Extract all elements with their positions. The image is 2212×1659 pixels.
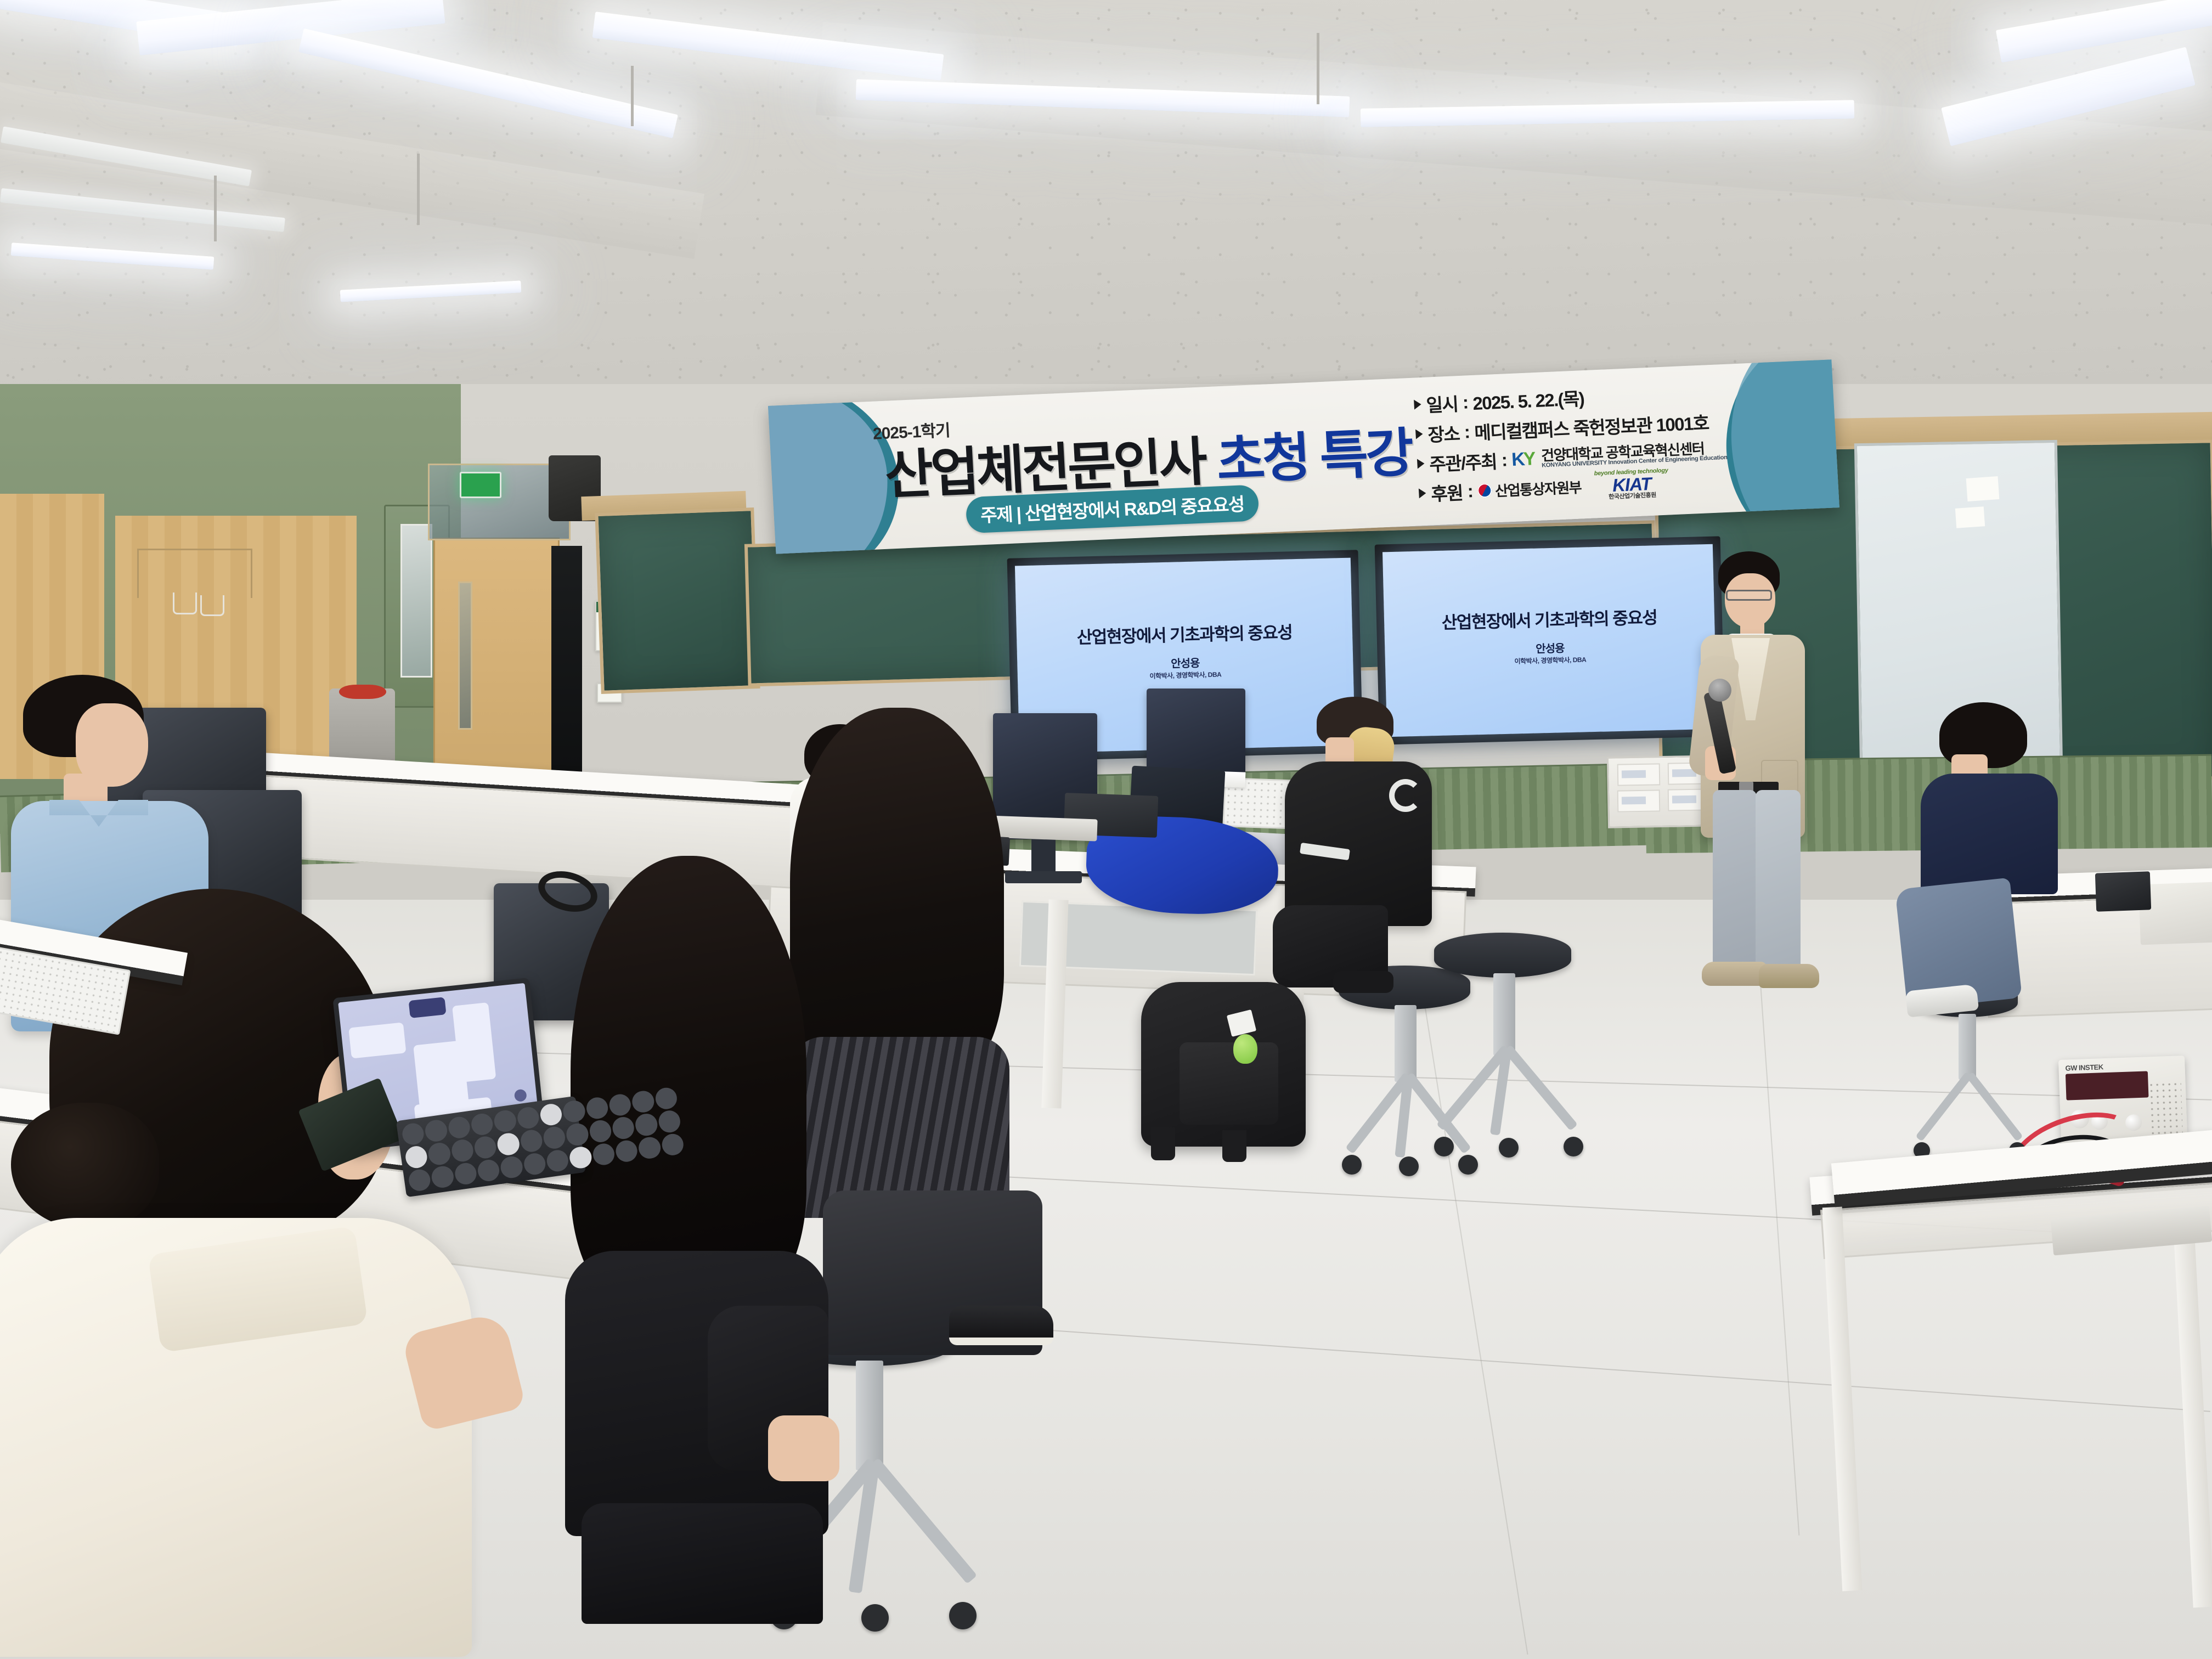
drawer-label bbox=[1622, 797, 1646, 805]
light-hanger-rod-4 bbox=[1317, 33, 1319, 104]
light-hanger-rod-3 bbox=[631, 66, 634, 126]
bullet-triangle-icon bbox=[1417, 459, 1425, 469]
backpack-charm-green bbox=[1233, 1034, 1257, 1064]
keyboard-key[interactable] bbox=[545, 1148, 569, 1172]
host-org-block: 건양대학교 공학교육혁신센터 KONYANG UNIVERSITY Innova… bbox=[1541, 440, 1727, 469]
banner-topic-divider: | bbox=[1016, 504, 1022, 524]
student-blonde-sandal bbox=[1333, 971, 1393, 993]
stool-caster bbox=[1499, 1138, 1519, 1158]
chat-bubble bbox=[409, 997, 447, 1018]
stool-caster bbox=[1342, 1155, 1362, 1175]
student-navy bbox=[1901, 702, 2060, 1009]
student-black-long-hair bbox=[571, 856, 806, 1306]
keyboard-key[interactable] bbox=[454, 1161, 478, 1186]
keyboard-key[interactable] bbox=[476, 1158, 500, 1182]
taegeuk-icon bbox=[1477, 483, 1492, 498]
banner-title-blue: 초청 특강 bbox=[1215, 424, 1413, 490]
keyboard-key[interactable] bbox=[516, 1106, 540, 1130]
banner-info-list: 일시 : 2025. 5. 22.(목) 장소 : 메디컬캠퍼스 죽헌정보관 1… bbox=[1413, 373, 1803, 508]
psu-display bbox=[2066, 1071, 2149, 1100]
whiteboard-sticky-2 bbox=[1955, 506, 1985, 528]
keyboard-key[interactable] bbox=[542, 1126, 566, 1150]
keyboard-key[interactable] bbox=[496, 1132, 521, 1156]
drawer-label bbox=[1622, 770, 1646, 778]
keyboard-key[interactable] bbox=[519, 1128, 543, 1153]
light-hanger-rod-1 bbox=[214, 176, 217, 241]
black-device-right bbox=[2095, 871, 2151, 911]
banner-topic-text: 산업현장에서 R&D의 중요요성 bbox=[1024, 494, 1244, 523]
stool-caster bbox=[949, 1602, 977, 1629]
student-black-long-hand bbox=[768, 1415, 839, 1481]
whiteboard-sticky-1 bbox=[1966, 476, 2000, 501]
psu-brand-label: GW INSTEK bbox=[2065, 1063, 2103, 1072]
av-drawer-1[interactable] bbox=[1617, 763, 1661, 786]
trash-lid bbox=[339, 685, 386, 699]
presenter-shoe-right bbox=[1759, 964, 1819, 988]
exit-sign bbox=[460, 472, 501, 498]
stool-leg bbox=[1915, 1071, 1972, 1141]
kiat-name-ko: 한국산업기술진흥원 bbox=[1609, 492, 1656, 500]
ky-logo-y: Y bbox=[1523, 448, 1535, 470]
student-cream-bun bbox=[11, 1103, 159, 1229]
stool-post bbox=[856, 1361, 883, 1470]
banner-info-host-label: 주관/주최 bbox=[1429, 447, 1497, 476]
stool-leg bbox=[868, 1458, 977, 1584]
slide-right-credentials: 이학박사, 경영학박사, DBA bbox=[1514, 655, 1586, 666]
slide-right-title: 산업현장에서 기초과학의 중요성 bbox=[1441, 604, 1657, 634]
keyboard-key[interactable] bbox=[493, 1109, 517, 1133]
stool-seat bbox=[1434, 933, 1571, 978]
chat-bubble bbox=[452, 1002, 496, 1082]
stool-empty-right[interactable] bbox=[1426, 933, 1596, 1185]
door-vision-strip bbox=[458, 582, 472, 730]
kiat-logo: beyond leading technology KIAT 한국산업기술진흥원 bbox=[1594, 467, 1669, 501]
keyboard-key[interactable] bbox=[450, 1138, 475, 1163]
ky-logo-k: K bbox=[1511, 449, 1524, 470]
tablet-avatar-icon bbox=[514, 1089, 527, 1102]
keyboard-key[interactable] bbox=[408, 1168, 432, 1192]
keyboard-key[interactable] bbox=[447, 1115, 471, 1139]
keyboard-key[interactable] bbox=[470, 1112, 494, 1136]
chat-bubble bbox=[348, 1022, 406, 1058]
glasses-icon bbox=[1726, 590, 1772, 601]
stool-caster bbox=[1399, 1156, 1419, 1176]
banner-wave-blue-left bbox=[768, 385, 893, 554]
presenter-trouser-left bbox=[1713, 790, 1757, 971]
chalkboard-left bbox=[595, 507, 760, 694]
stool-post bbox=[1959, 1014, 1976, 1080]
motie-logo: 산업통상자원부 bbox=[1477, 476, 1582, 501]
banner-info-place-sep: : bbox=[1464, 421, 1470, 442]
stool-caster bbox=[861, 1604, 889, 1632]
bullet-triangle-icon bbox=[1415, 429, 1423, 439]
banner-info-sponsor-sep: : bbox=[1467, 481, 1473, 501]
banner-topic-label: 주제 bbox=[980, 504, 1013, 526]
presenter-shoe-left bbox=[1702, 962, 1767, 986]
slide-left-credentials: 이학박사, 경영학박사, DBA bbox=[1149, 669, 1221, 680]
microphone-head bbox=[1708, 679, 1731, 702]
stool-caster bbox=[1564, 1137, 1583, 1156]
presenter bbox=[1679, 551, 1805, 990]
jacket-back-logo bbox=[1389, 779, 1422, 812]
stool-caster bbox=[1434, 1137, 1454, 1156]
student-striped-shoe bbox=[949, 1306, 1053, 1345]
konyang-ky-logo-icon: KY bbox=[1511, 448, 1534, 471]
keyboard-key[interactable] bbox=[401, 1122, 425, 1146]
student-navy-torso bbox=[1921, 774, 2058, 894]
stool-post bbox=[1493, 973, 1515, 1056]
lecture-hall-photo: 2025-1학기 산업체전문인사 초청 특강 주제 | 산업현장에서 R&D의 … bbox=[0, 0, 2212, 1659]
keyboard-key[interactable] bbox=[424, 1119, 448, 1143]
student-black-long bbox=[549, 856, 856, 1624]
backpack-strap-left bbox=[1151, 1127, 1175, 1160]
bullet-triangle-icon bbox=[1419, 488, 1426, 499]
banner-info-host-sep: : bbox=[1501, 449, 1507, 470]
stool-post bbox=[1395, 1005, 1417, 1082]
slide-left-title: 산업현장에서 기초과학의 중요성 bbox=[1076, 618, 1292, 648]
stool-leg bbox=[1503, 1045, 1578, 1131]
door-opening-dark bbox=[551, 546, 582, 804]
keyboard-key[interactable] bbox=[539, 1103, 563, 1127]
coat-rail bbox=[137, 549, 252, 598]
banner-info-date-sep: : bbox=[1462, 392, 1468, 413]
keyboard-key[interactable] bbox=[404, 1145, 428, 1169]
classroom-door[interactable] bbox=[433, 538, 560, 801]
keyboard-key[interactable] bbox=[427, 1142, 452, 1166]
light-hanger-rod-2 bbox=[417, 154, 420, 225]
stool-leg bbox=[1966, 1071, 2023, 1141]
keyboard-key[interactable] bbox=[431, 1165, 455, 1189]
presenter-trouser-right bbox=[1756, 790, 1801, 971]
ministry-name: 산업통상자원부 bbox=[1494, 476, 1582, 500]
banner-info-place-label: 장소 bbox=[1427, 419, 1460, 447]
keyboard-key[interactable] bbox=[522, 1152, 546, 1176]
slide-left-presenter: 안성용 bbox=[1171, 654, 1200, 670]
slide-right-presenter: 안성용 bbox=[1536, 640, 1565, 656]
hanger-icon-2 bbox=[200, 595, 224, 616]
kiat-wordmark: KIAT bbox=[1612, 474, 1651, 494]
av-drawer-3[interactable] bbox=[1617, 789, 1661, 812]
backpack-strap-right bbox=[1222, 1130, 1246, 1162]
bullet-triangle-icon bbox=[1414, 399, 1421, 410]
student-black-long-pants bbox=[582, 1503, 823, 1624]
banner-info-sponsor-label: 후원 bbox=[1430, 478, 1463, 506]
backpack-front-pocket bbox=[1180, 1042, 1278, 1125]
wall-cabinet-glass bbox=[400, 524, 432, 678]
keyboard-key[interactable] bbox=[499, 1155, 523, 1179]
student-blonde bbox=[1273, 697, 1437, 982]
hanger-icon-1 bbox=[173, 592, 197, 614]
keyboard-key[interactable] bbox=[473, 1135, 498, 1159]
banner-info-date-label: 일시 bbox=[1425, 390, 1458, 417]
presenter-face bbox=[1725, 573, 1775, 628]
banner-info-date-value: 2025. 5. 22.(목) bbox=[1472, 384, 1584, 415]
